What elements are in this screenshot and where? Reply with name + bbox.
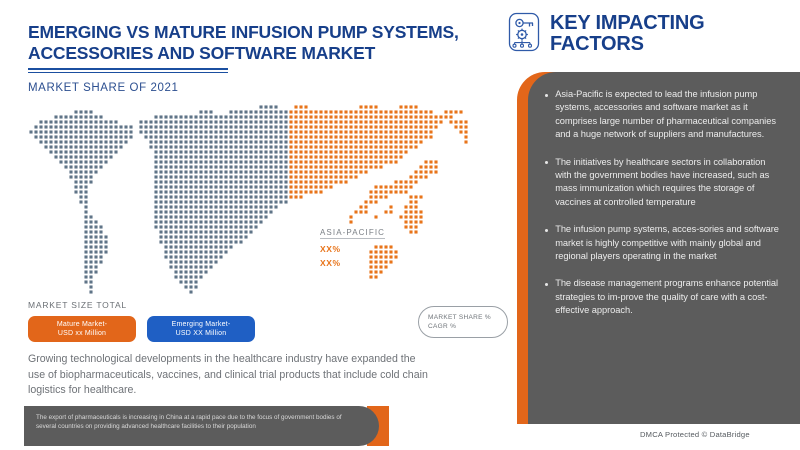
map-region-cagr: XX% — [320, 258, 385, 268]
footnote-text: The export of pharmaceuticals is increas… — [36, 413, 353, 431]
page-title: EMERGING VS MATURE INFUSION PUMP SYSTEMS… — [28, 22, 488, 64]
legend-pill-mature-line1: Mature Market- — [57, 320, 107, 330]
bullet-dot-icon — [545, 229, 548, 232]
list-item: The infusion pump systems, acces-sories … — [545, 223, 783, 263]
map-region-label: ASIA-PACIFIC — [320, 228, 385, 239]
list-item: Asia-Pacific is expected to lead the inf… — [545, 88, 783, 142]
market-share-callout: MARKET SHARE % CAGR % — [418, 306, 508, 338]
page-subtitle: MARKET SHARE OF 2021 — [28, 82, 488, 94]
list-item-text: Asia-Pacific is expected to lead the inf… — [555, 88, 783, 142]
callout-cagr: CAGR % — [428, 322, 507, 331]
key-factors-title: KEY IMPACTING FACTORS — [550, 13, 800, 55]
list-item-text: The initiatives by healthcare sectors in… — [555, 156, 783, 210]
list-item: The disease management programs enhance … — [545, 277, 783, 317]
map-dots-mature — [29, 105, 287, 293]
legend-pills: Mature Market- USD xx Million Emerging M… — [28, 316, 255, 342]
map-region-callout: ASIA-PACIFIC XX% XX% — [320, 222, 385, 268]
list-item-text: The infusion pump systems, acces-sories … — [555, 223, 783, 263]
legend-pill-mature-line2: USD xx Million — [58, 329, 106, 339]
list-item-text: The disease management programs enhance … — [555, 277, 783, 317]
key-factors-list: Asia-Pacific is expected to lead the inf… — [545, 88, 783, 332]
legend-pill-emerging-line1: Emerging Market- — [172, 320, 231, 330]
divider-line-bottom — [28, 72, 228, 73]
body-paragraph: Growing technological developments in th… — [28, 352, 428, 399]
legend-pill-mature: Mature Market- USD xx Million — [28, 316, 136, 342]
legend-pill-emerging: Emerging Market- USD XX Million — [147, 316, 255, 342]
divider-line-top — [28, 68, 228, 70]
world-map-svg — [14, 100, 519, 300]
dmca-attribution: DMCA Protected © DataBridge — [640, 430, 750, 439]
footnote-body: The export of pharmaceuticals is increas… — [24, 406, 379, 446]
legend-pill-emerging-line2: USD XX Million — [176, 329, 227, 339]
legend-title: MARKET SIZE TOTAL — [28, 300, 127, 310]
callout-market-share: MARKET SHARE % — [428, 313, 507, 322]
infographic-canvas: EMERGING VS MATURE INFUSION PUMP SYSTEMS… — [0, 0, 800, 450]
map-region-share: XX% — [320, 244, 385, 254]
key-factors-panel: Asia-Pacific is expected to lead the inf… — [517, 72, 800, 424]
title-divider — [28, 68, 228, 73]
key-factors-header: KEY IMPACTING FACTORS — [505, 10, 800, 55]
world-dot-map — [14, 100, 519, 300]
key-gear-network-icon — [505, 10, 543, 54]
bullet-dot-icon — [545, 283, 548, 286]
list-item: The initiatives by healthcare sectors in… — [545, 156, 783, 210]
bullet-dot-icon — [545, 94, 548, 97]
bullet-dot-icon — [545, 161, 548, 164]
title-block: EMERGING VS MATURE INFUSION PUMP SYSTEMS… — [28, 22, 488, 94]
footnote-box: The export of pharmaceuticals is increas… — [24, 406, 389, 446]
